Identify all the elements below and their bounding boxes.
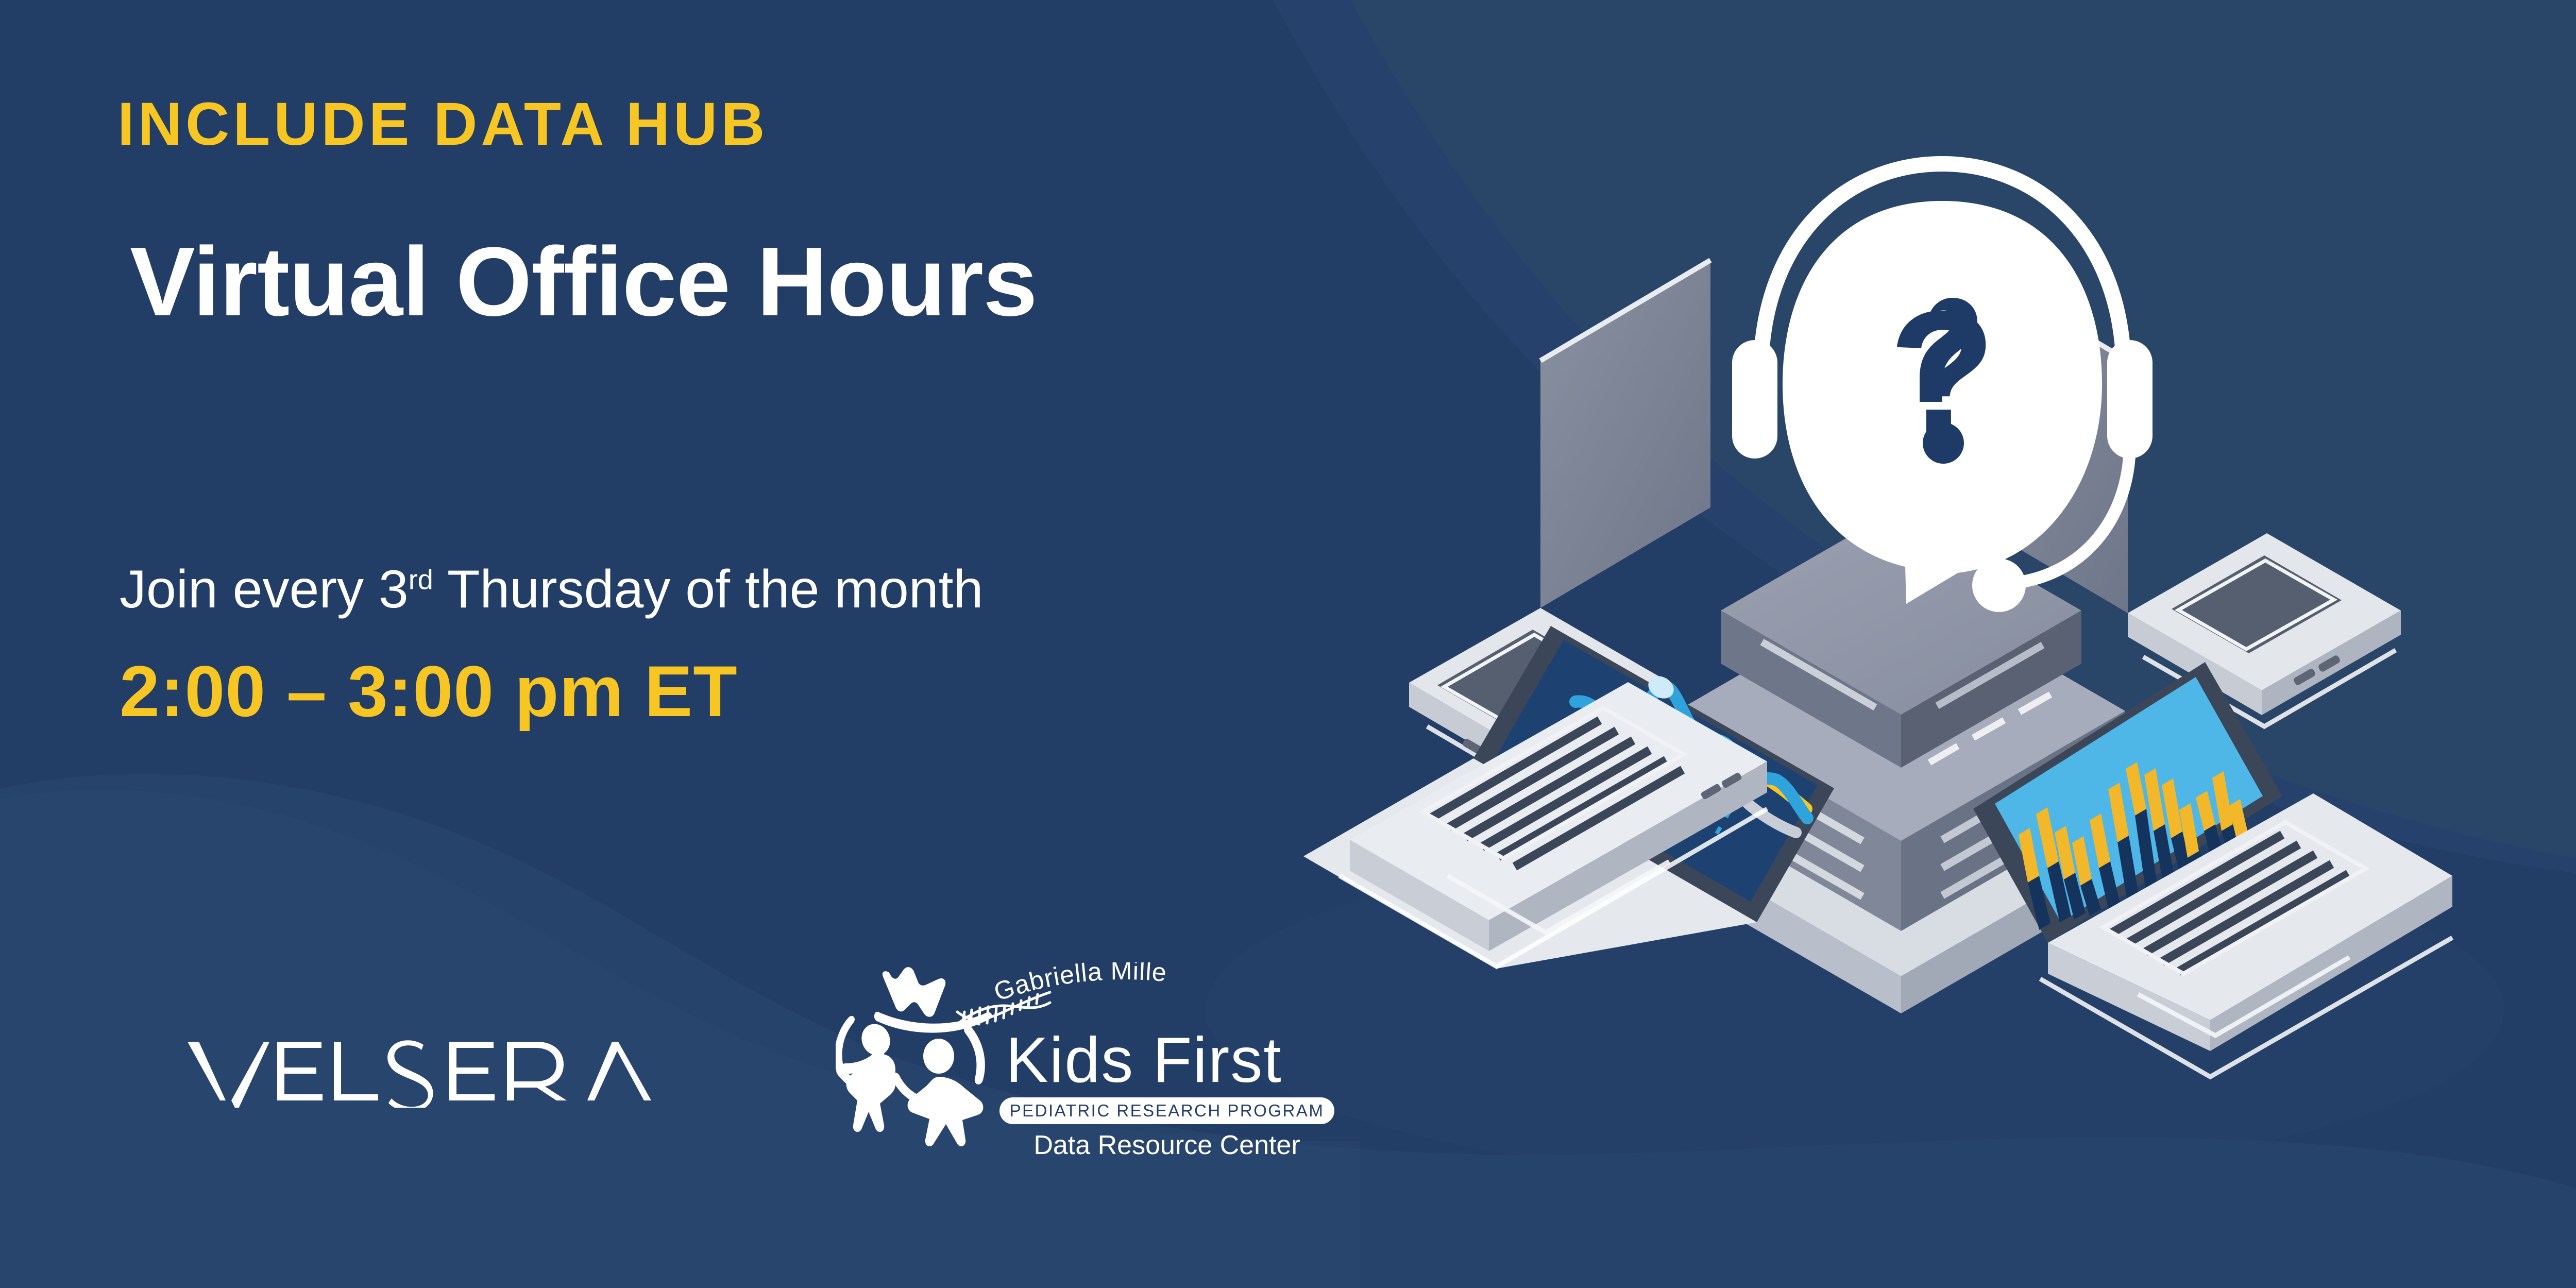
letter-L xyxy=(334,1042,378,1100)
kids-first-subtitle: Data Resource Center xyxy=(1033,1130,1300,1160)
velsera-wordmark xyxy=(181,1036,697,1108)
velsera-letters xyxy=(188,1040,651,1108)
letter-R xyxy=(507,1042,567,1100)
letter-E xyxy=(277,1042,323,1100)
promo-banner: ? xyxy=(0,0,2576,1288)
recurrence-ordinal: rd xyxy=(409,564,433,595)
recurrence-text: Join every 3rd Thursday of the month xyxy=(120,563,983,616)
eyebrow-label: INCLUDE DATA HUB xyxy=(117,94,768,155)
kids-first-pill-text: PEDIATRIC RESEARCH PROGRAM xyxy=(1010,1101,1325,1120)
kids-first-children-mark xyxy=(836,963,992,1146)
recurrence-suffix: Thursday of the month xyxy=(433,560,984,619)
kids-first-wordmark: Kids First xyxy=(1006,1025,1282,1096)
child-head-right xyxy=(923,1039,954,1074)
child-body-right xyxy=(908,1077,984,1146)
page-title: Virtual Office Hours xyxy=(130,233,1037,331)
text-content: INCLUDE DATA HUB Virtual Office Hours Jo… xyxy=(0,0,2576,1288)
recurrence-prefix: Join every 3 xyxy=(120,560,409,619)
child-arm-right-outer xyxy=(964,1025,985,1084)
kids-first-lockup: Gabriella Miller Kids First PEDIATRIC RE… xyxy=(836,962,1341,1163)
child-arm-right-inner xyxy=(892,1073,920,1101)
kids-first-logo: Gabriella Miller Kids First PEDIATRIC RE… xyxy=(836,962,1341,1163)
event-time: 2:00 – 3:00 pm ET xyxy=(120,655,738,727)
letter-V xyxy=(188,1042,269,1108)
letter-E2 xyxy=(449,1042,495,1100)
letter-A xyxy=(587,1042,651,1100)
velsera-logo xyxy=(181,1036,697,1108)
ribbon-top xyxy=(883,967,945,1017)
letter-S xyxy=(387,1040,433,1108)
